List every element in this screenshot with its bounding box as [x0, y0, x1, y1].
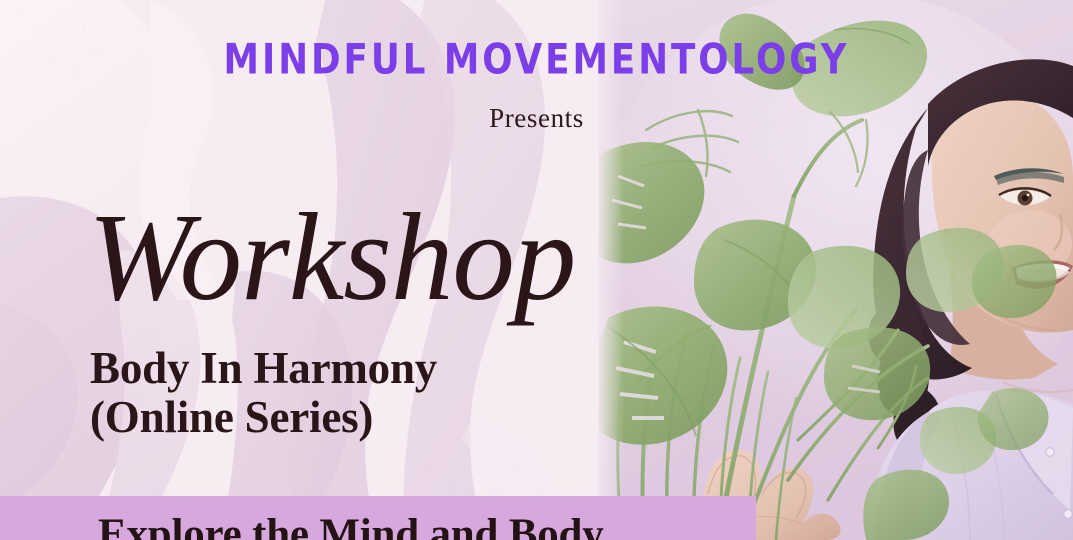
poster-canvas: MINDFUL MOVEMENTOLOGY Presents Workshop … — [0, 0, 1073, 540]
brand-name: MINDFUL MOVEMENTOLOGY — [5, 40, 1067, 82]
workshop-subtitle: Body In Harmony (Online Series) — [90, 344, 437, 441]
page-title: Workshop — [88, 196, 575, 321]
workshop-subtitle-line-1: Body In Harmony — [90, 343, 437, 393]
bottom-banner-text: Explore the Mind and Body — [98, 512, 798, 540]
presents-label: Presents — [0, 104, 1073, 134]
workshop-subtitle-line-2: (Online Series) — [90, 393, 437, 442]
